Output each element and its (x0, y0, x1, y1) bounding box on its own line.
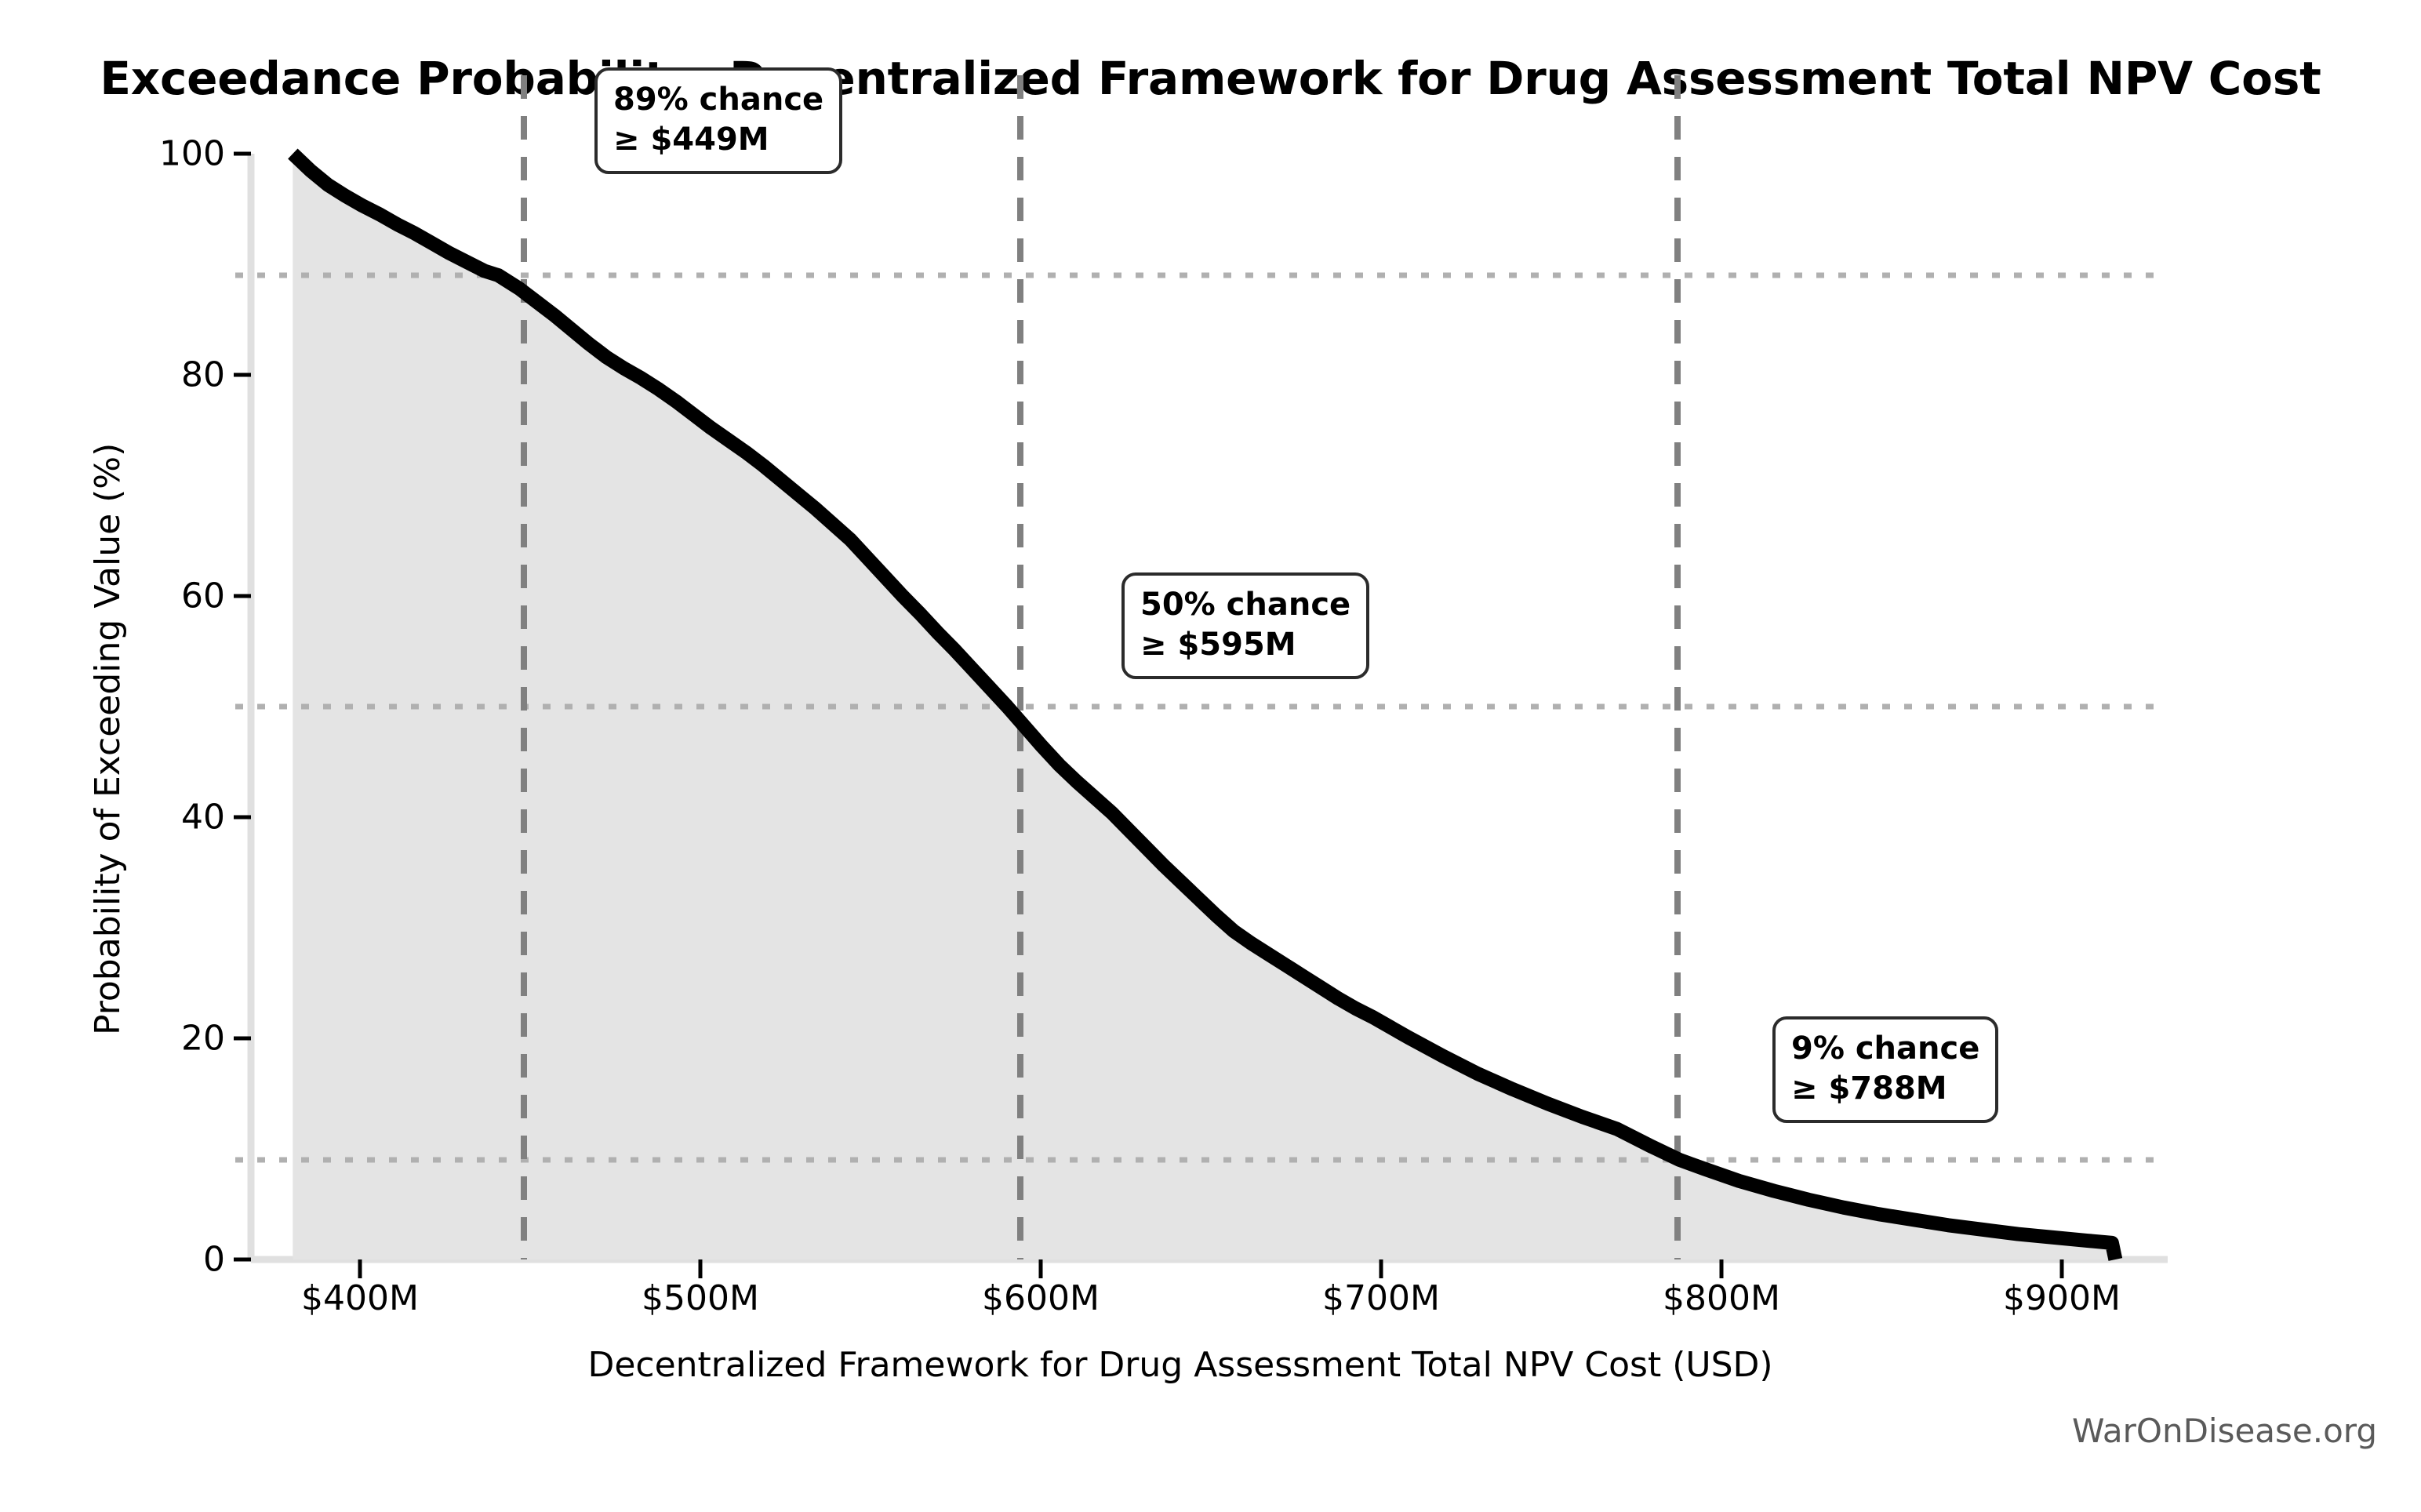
annotation-89-chance: 89% chance ≥ $449M (594, 67, 842, 174)
x-axis-label: Decentralized Framework for Drug Assessm… (0, 1345, 2361, 1385)
annotation-50-chance: 50% chance ≥ $595M (1121, 572, 1369, 679)
x-tick-label-600m: $600M (923, 1278, 1158, 1318)
annotation-9-chance: 9% chance ≥ $788M (1772, 1016, 1998, 1123)
annotation-50-line1: 50% chance (1140, 587, 1350, 623)
x-tick-label-900m: $900M (1944, 1278, 2179, 1318)
y-axis-label: Probability of Exceeding Value (%) (88, 443, 128, 1035)
annotation-9-line1: 9% chance (1791, 1030, 1979, 1067)
plot-area: 89% chance ≥ $449M 50% chance ≥ $595M 9%… (251, 154, 2168, 1259)
annotation-50-line2: ≥ $595M (1140, 625, 1350, 665)
y-tick-label-0: 0 (68, 1240, 225, 1280)
x-tick-label-800m: $800M (1604, 1278, 1839, 1318)
x-tick-label-700m: $700M (1263, 1278, 1499, 1318)
exceedance-probability-chart: Exceedance Probability: Decentralized Fr… (0, 0, 2421, 1512)
y-tick-label-40: 40 (68, 798, 225, 838)
watermark: WarOnDisease.org (2072, 1412, 2377, 1450)
y-tick-label-20: 20 (68, 1019, 225, 1059)
y-tick-label-60: 60 (68, 576, 225, 616)
x-tick-label-400m: $400M (242, 1278, 478, 1318)
page-title: Exceedance Probability: Decentralized Fr… (0, 52, 2421, 105)
annotation-89-line2: ≥ $449M (613, 120, 823, 160)
y-tick-label-100: 100 (68, 134, 225, 174)
annotation-9-line2: ≥ $788M (1791, 1069, 1979, 1109)
x-tick-label-500m: $500M (583, 1278, 818, 1318)
y-tick-label-80: 80 (68, 355, 225, 395)
annotation-89-line1: 89% chance (613, 82, 823, 118)
